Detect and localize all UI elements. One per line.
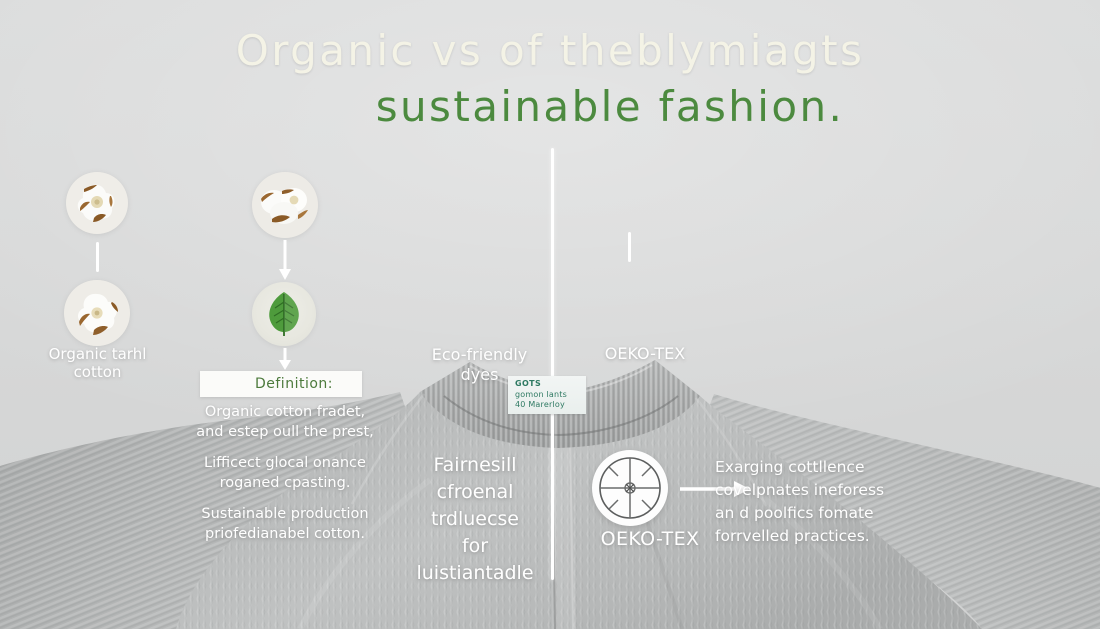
- oeko-tex-outline-icon-bottom: [0, 132, 66, 198]
- right-text-block: Exarging cottllence covelpnates inefores…: [715, 456, 915, 548]
- definition-p2-line1: Lifficect glocal onance: [204, 455, 366, 471]
- gots-line-2: gomon lants: [515, 390, 586, 401]
- definition-paragraphs: Organic cotton fradet, and estep oull th…: [190, 402, 380, 544]
- cardigan-garment-image: [0, 300, 1100, 629]
- page-title: Organic vs of theblymiagts sustainable f…: [0, 26, 1100, 131]
- center-text-line-4: for: [400, 533, 550, 560]
- connector-line-oeko: [628, 232, 631, 262]
- center-text-line-3: trdluecse: [400, 506, 550, 533]
- gots-line-1: GOTS: [515, 379, 586, 390]
- definition-label: Definition:: [229, 376, 333, 392]
- star-burst-icon: [0, 66, 66, 132]
- center-text-line-1: Fairnesill: [400, 452, 550, 479]
- wheel-spokes-icon: [0, 132, 66, 198]
- cotton-boll-cluster-photo: [252, 172, 318, 238]
- definition-p3-line2: priofedianabel cotton.: [205, 526, 365, 542]
- dye-drop-icon: [0, 0, 66, 66]
- definition-p3-line1: Sustainable production: [201, 506, 368, 522]
- cotton-boll-photo-top: [66, 172, 128, 234]
- infographic-canvas: Organic vs of theblymiagts sustainable f…: [0, 0, 1100, 629]
- center-text-block: Fairnesill cfroenal trdluecse for luisti…: [400, 452, 550, 587]
- center-text-line-5: luistiantadle: [400, 560, 550, 587]
- arrow-leaf-to-definition: [276, 348, 294, 372]
- cotton-boll-photo-bottom: [64, 280, 130, 346]
- definition-paragraph-1: Organic cotton fradet, and estep oull th…: [190, 402, 380, 442]
- right-text-line-4: forrvelled practices.: [715, 525, 915, 548]
- oeko-tex-wheel-icon: [596, 454, 664, 522]
- definition-p1-line1: Organic cotton fradet,: [205, 404, 365, 420]
- right-text-line-3: an d poolfics fomate: [715, 502, 915, 525]
- oeko-tex-outline-icon-top: [0, 66, 66, 132]
- leaf-icon: [264, 290, 304, 338]
- definition-callout-box: Definition:: [200, 371, 362, 397]
- definition-paragraph-3: Sustainable production priofedianabel co…: [190, 504, 380, 544]
- title-line-2: sustainable fashion.: [0, 82, 1100, 132]
- right-text-line-1: Exarging cottllence: [715, 456, 915, 479]
- leaf-icon-badge: [252, 282, 316, 346]
- arrow-cotton-to-leaf: [276, 240, 294, 282]
- definition-p1-line2: and estep oull the prest,: [196, 424, 374, 440]
- center-text-line-2: cfroenal: [400, 479, 550, 506]
- definition-paragraph-2: Lifficect glocal onance roganed cpasting…: [190, 453, 380, 493]
- vertical-divider: [551, 148, 554, 580]
- eco-friendly-dyes-icon-badge: [0, 0, 66, 66]
- oeko-tex-emblem: [592, 450, 668, 526]
- gots-care-label: GOTS gomon lants 40 Marerloy: [508, 376, 586, 414]
- connector-line-cotton: [96, 242, 99, 272]
- definition-p2-line2: roganed cpasting.: [220, 475, 351, 491]
- title-line-1: Organic vs of theblymiagts: [0, 26, 1100, 76]
- gots-line-3: 40 Marerloy: [515, 400, 586, 411]
- right-text-line-2: covelpnates ineforess: [715, 479, 915, 502]
